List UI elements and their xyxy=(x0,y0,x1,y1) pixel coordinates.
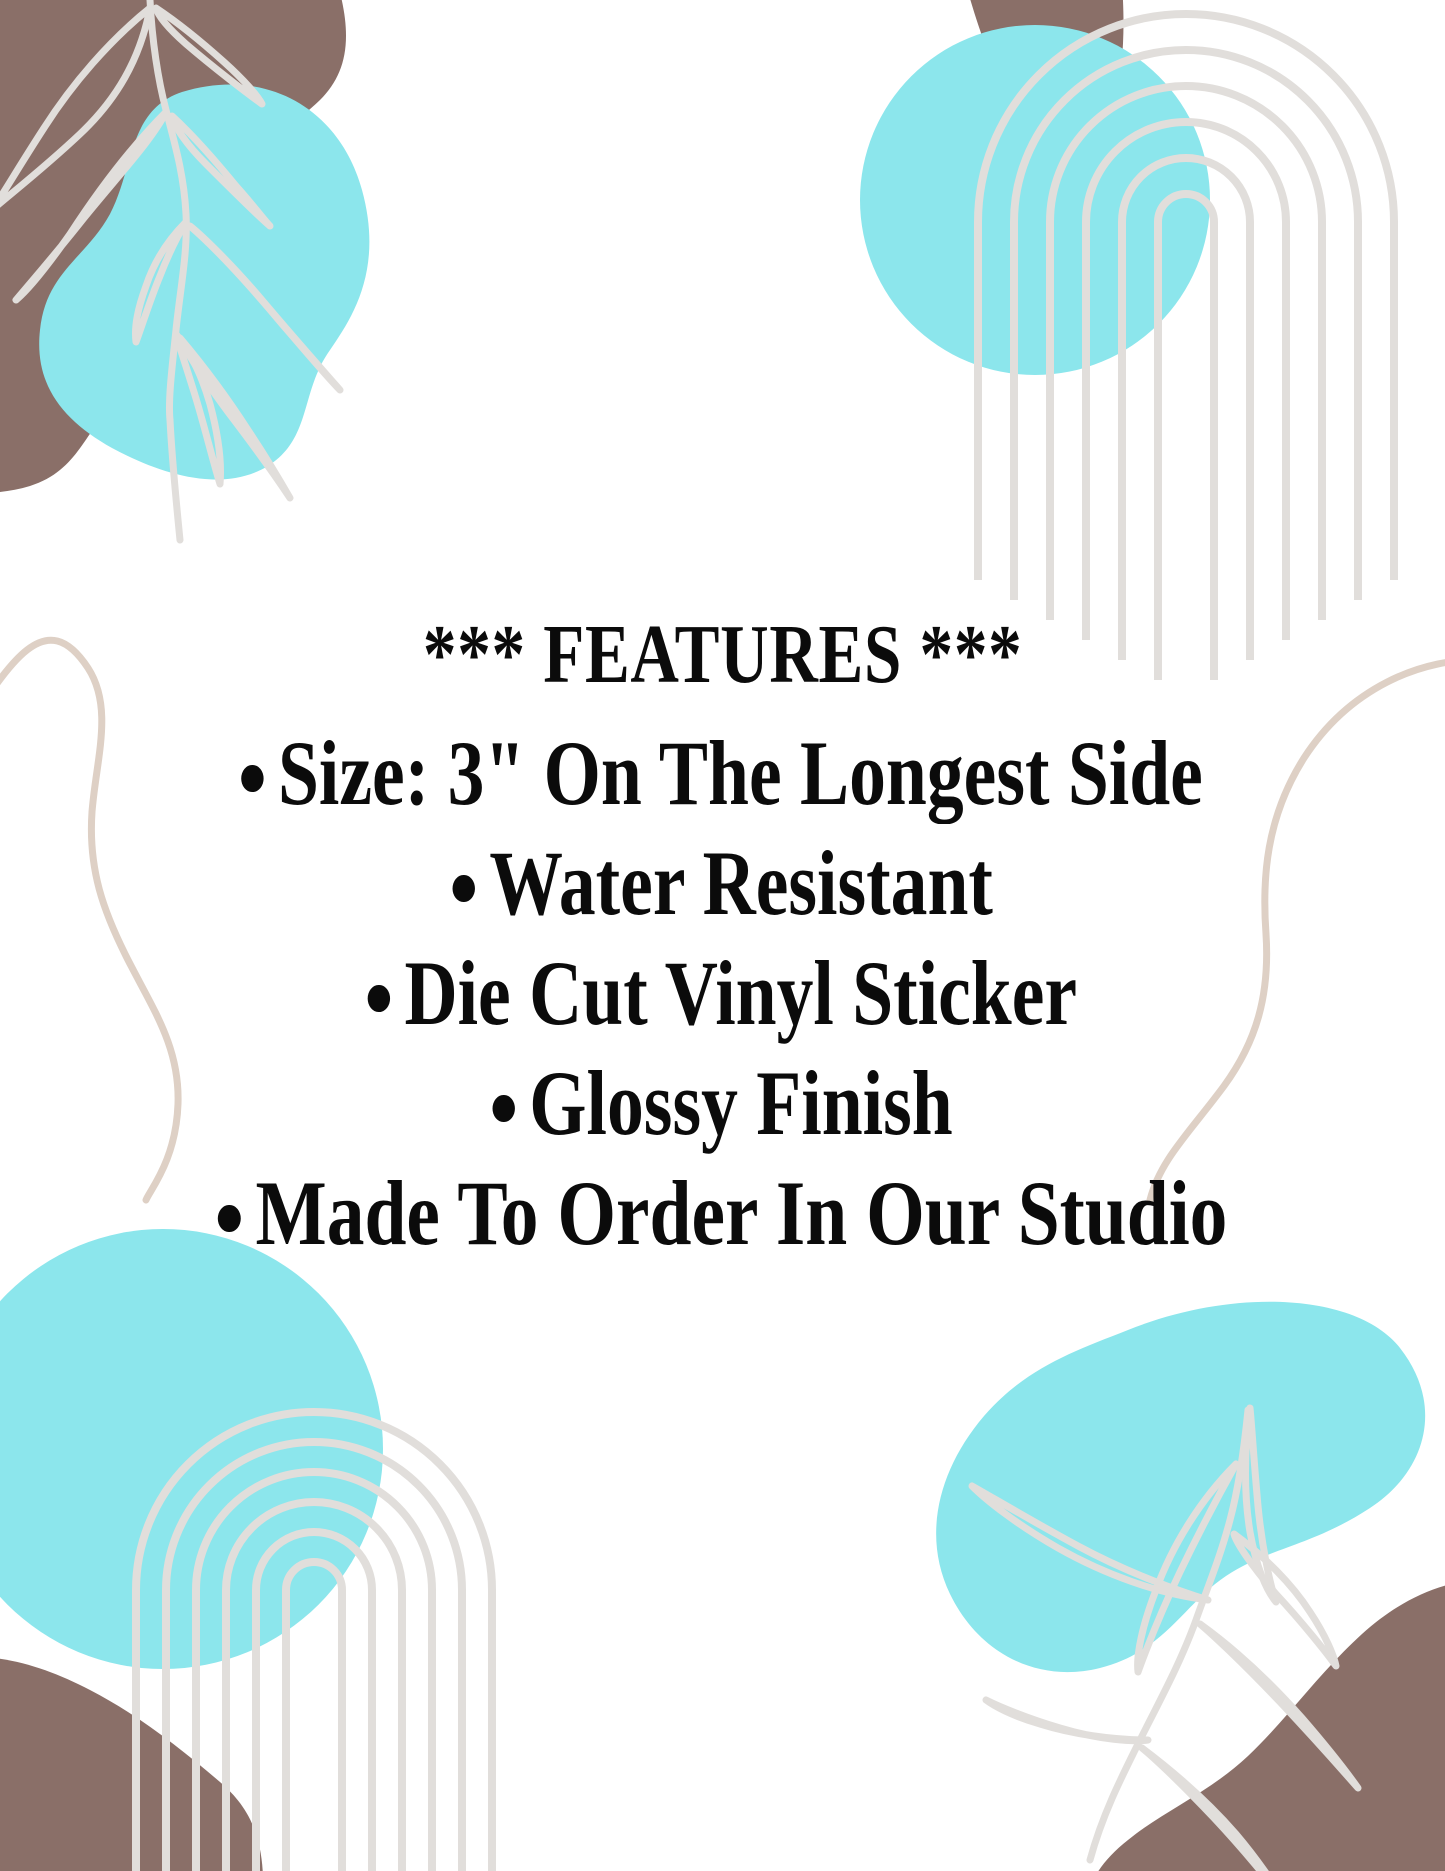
feature-text: Glossy Finish xyxy=(529,1052,952,1154)
list-item: Glossy Finish xyxy=(0,1057,1445,1149)
feature-text: Size: 3" On The Longest Side xyxy=(278,722,1203,824)
list-item: Water Resistant xyxy=(0,837,1445,929)
features-list: Size: 3" On The Longest Side Water Resis… xyxy=(0,711,1445,1259)
list-item: Made To Order In Our Studio xyxy=(0,1167,1445,1259)
bullet-dot-icon xyxy=(218,1205,241,1233)
bullet-dot-icon xyxy=(492,1095,514,1123)
bullet-dot-icon xyxy=(452,875,474,903)
feature-text: Made To Order In Our Studio xyxy=(255,1162,1227,1264)
feature-text: Water Resistant xyxy=(489,832,993,934)
bullet-dot-icon xyxy=(368,985,390,1013)
list-item: Size: 3" On The Longest Side xyxy=(0,727,1445,819)
feature-text: Die Cut Vinyl Sticker xyxy=(405,942,1078,1044)
page-title: *** FEATURES *** xyxy=(423,613,1022,697)
bullet-dot-icon xyxy=(242,765,264,793)
features-poster: *** FEATURES *** Size: 3" On The Longest… xyxy=(0,0,1445,1871)
list-item: Die Cut Vinyl Sticker xyxy=(0,947,1445,1039)
poster-content: *** FEATURES *** Size: 3" On The Longest… xyxy=(0,0,1445,1871)
